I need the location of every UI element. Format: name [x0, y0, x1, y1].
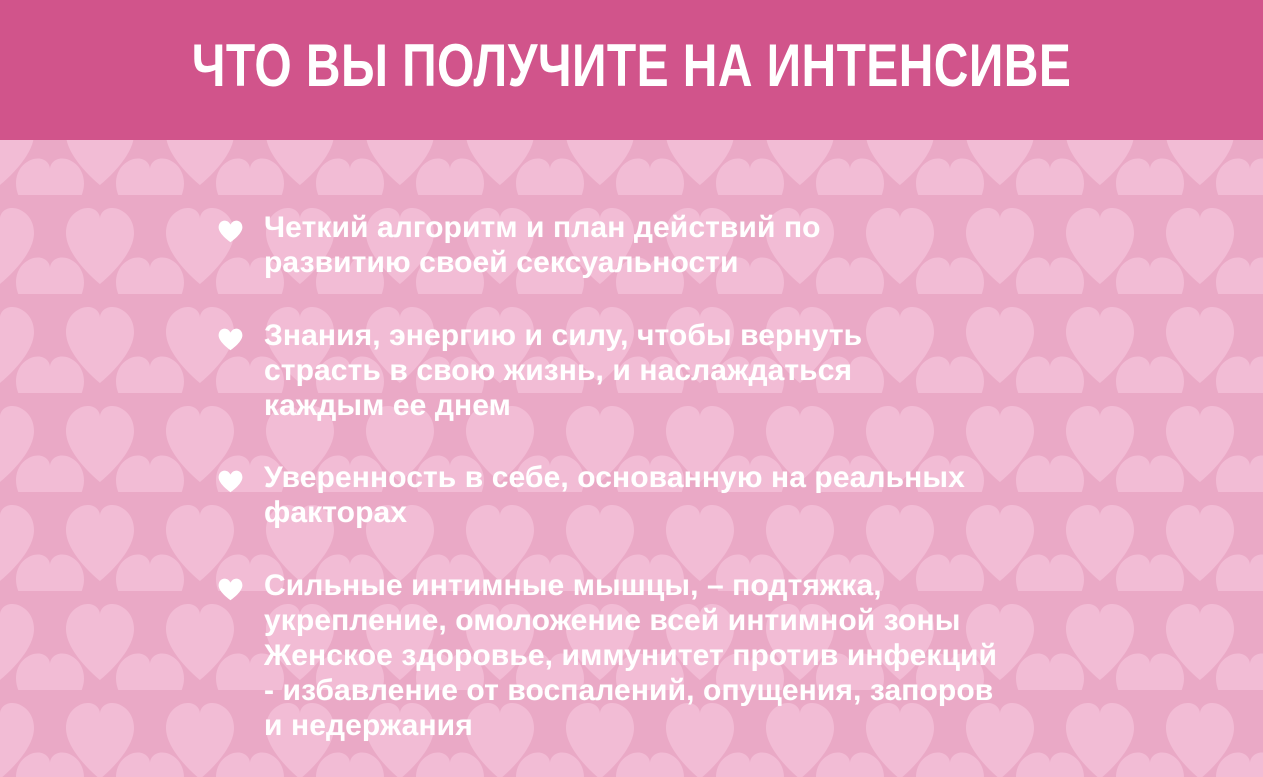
- heart-bullet-icon: [218, 462, 244, 496]
- slide-root: ЧТО ВЫ ПОЛУЧИТЕ НА ИНТЕНСИВЕ: [0, 0, 1263, 777]
- list-item: Уверенность в себе, основанную на реальн…: [218, 460, 965, 530]
- page-title: ЧТО ВЫ ПОЛУЧИТЕ НА ИНТЕНСИВЕ: [126, 30, 1136, 102]
- list-item: Знания, энергию и силу, чтобы вернуть ст…: [218, 318, 862, 423]
- heart-bullet-icon: [218, 212, 244, 246]
- list-item: Сильные интимные мышцы, – подтяжка, укре…: [218, 568, 997, 743]
- heart-bullet-icon: [218, 320, 244, 354]
- list-item: Четкий алгоритм и план действий по разви…: [218, 210, 821, 280]
- list-item-label: Знания, энергию и силу, чтобы вернуть ст…: [264, 318, 862, 423]
- header-band: ЧТО ВЫ ПОЛУЧИТЕ НА ИНТЕНСИВЕ: [0, 0, 1263, 140]
- heart-bullet-icon: [218, 570, 244, 604]
- benefits-list: Четкий алгоритм и план действий по разви…: [0, 140, 1263, 777]
- list-item-label: Сильные интимные мышцы, – подтяжка, укре…: [264, 568, 997, 743]
- list-item-label: Уверенность в себе, основанную на реальн…: [264, 460, 965, 530]
- list-item-label: Четкий алгоритм и план действий по разви…: [264, 210, 821, 280]
